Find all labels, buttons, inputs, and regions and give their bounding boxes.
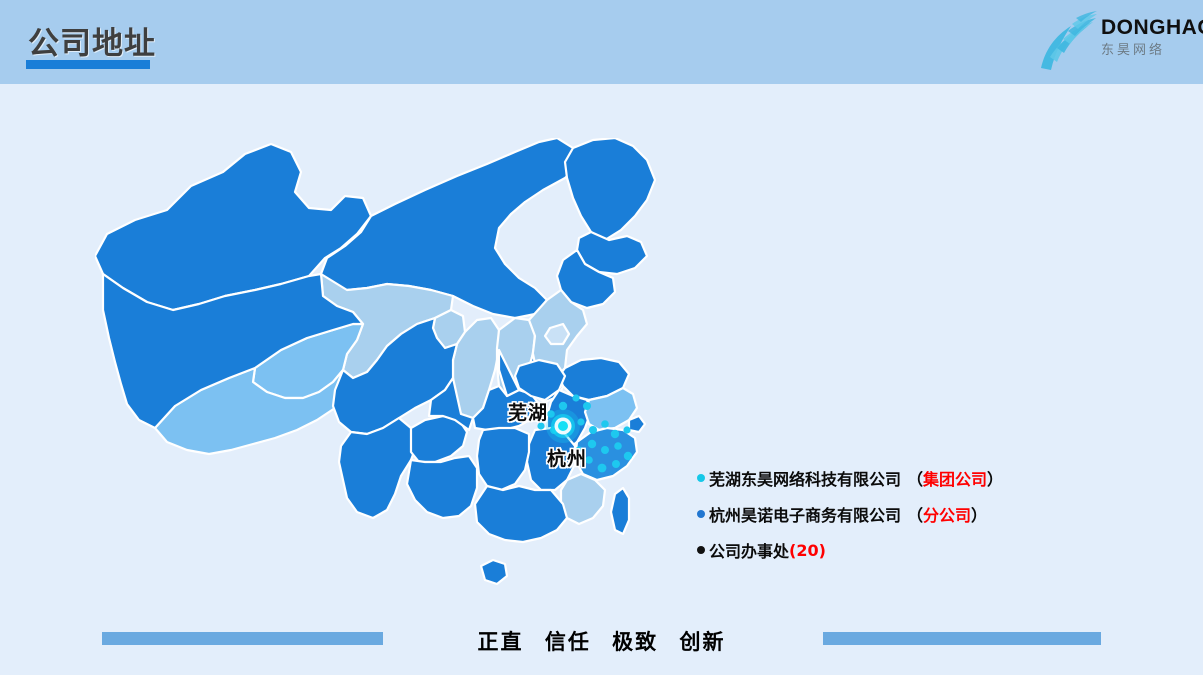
slogan-word-2: 信任	[545, 630, 591, 654]
footer-slogan: 正直 信任 极致 创新	[0, 626, 1203, 656]
city-label-hangzhou: 杭州	[547, 444, 587, 471]
logo-brand-sub: 东昊网络	[1101, 41, 1197, 59]
legend-bullet-cyan	[697, 474, 705, 482]
province-guangdong	[475, 486, 567, 542]
legend-note-highlight-2: (20)	[789, 541, 826, 560]
company-logo: DONGHAO 东昊网络	[1017, 6, 1193, 76]
province-heilongjiang	[565, 138, 655, 240]
logo-brand-name: DONGHAO	[1101, 16, 1197, 40]
province-hainan	[481, 560, 507, 584]
province-taiwan	[611, 488, 629, 534]
slogan-word-4: 创新	[679, 630, 725, 654]
city-label-wuhu: 芜湖	[508, 398, 548, 425]
slogan-word-1: 正直	[478, 630, 524, 654]
legend-note-group-company: （集团公司）	[907, 466, 1003, 490]
wing-bird-logo-icon	[1031, 10, 1103, 72]
legend-label-offices: 公司办事处	[709, 538, 789, 562]
page-title: 公司地址	[28, 18, 156, 63]
title-underline-accent	[26, 60, 150, 69]
province-yunnan	[339, 418, 417, 518]
province-guangxi	[407, 456, 477, 518]
legend-note-highlight-0: 集团公司	[923, 470, 987, 489]
legend-note-branch-company: （分公司）	[907, 502, 987, 526]
legend-label-branch-company: 杭州昊诺电子商务有限公司	[709, 502, 901, 526]
legend-note-close-1: ）	[971, 506, 987, 525]
slogan-word-3: 极致	[612, 630, 658, 654]
legend-note-highlight-1: 分公司	[923, 506, 971, 525]
legend-item-offices: 公司办事处 (20)	[697, 532, 1027, 568]
hq-marker-wuhu	[546, 409, 580, 443]
china-provinces-map	[95, 138, 695, 608]
legend-label-group-company: 芜湖东昊网络科技有限公司	[709, 466, 901, 490]
legend-note-close-0: ）	[987, 470, 1003, 489]
legend-note-open-1: （	[907, 506, 923, 525]
legend-list: 芜湖东昊网络科技有限公司 （集团公司） 杭州昊诺电子商务有限公司 （分公司） 公…	[697, 460, 1027, 568]
legend-note-open-0: （	[907, 470, 923, 489]
legend-item-branch-company: 杭州昊诺电子商务有限公司 （分公司）	[697, 496, 1027, 532]
legend-note-offices: (20)	[789, 541, 826, 560]
china-map-container: 芜湖 杭州	[95, 138, 695, 608]
legend-item-group-company: 芜湖东昊网络科技有限公司 （集团公司）	[697, 460, 1027, 496]
legend-bullet-blue	[697, 510, 705, 518]
province-hunan	[477, 428, 529, 490]
page-header: 公司地址 DONGHAO 东昊网络	[0, 0, 1203, 84]
legend-bullet-black	[697, 546, 705, 554]
province-shanghai	[629, 416, 645, 432]
logo-text-block: DONGHAO 东昊网络	[1101, 16, 1197, 59]
